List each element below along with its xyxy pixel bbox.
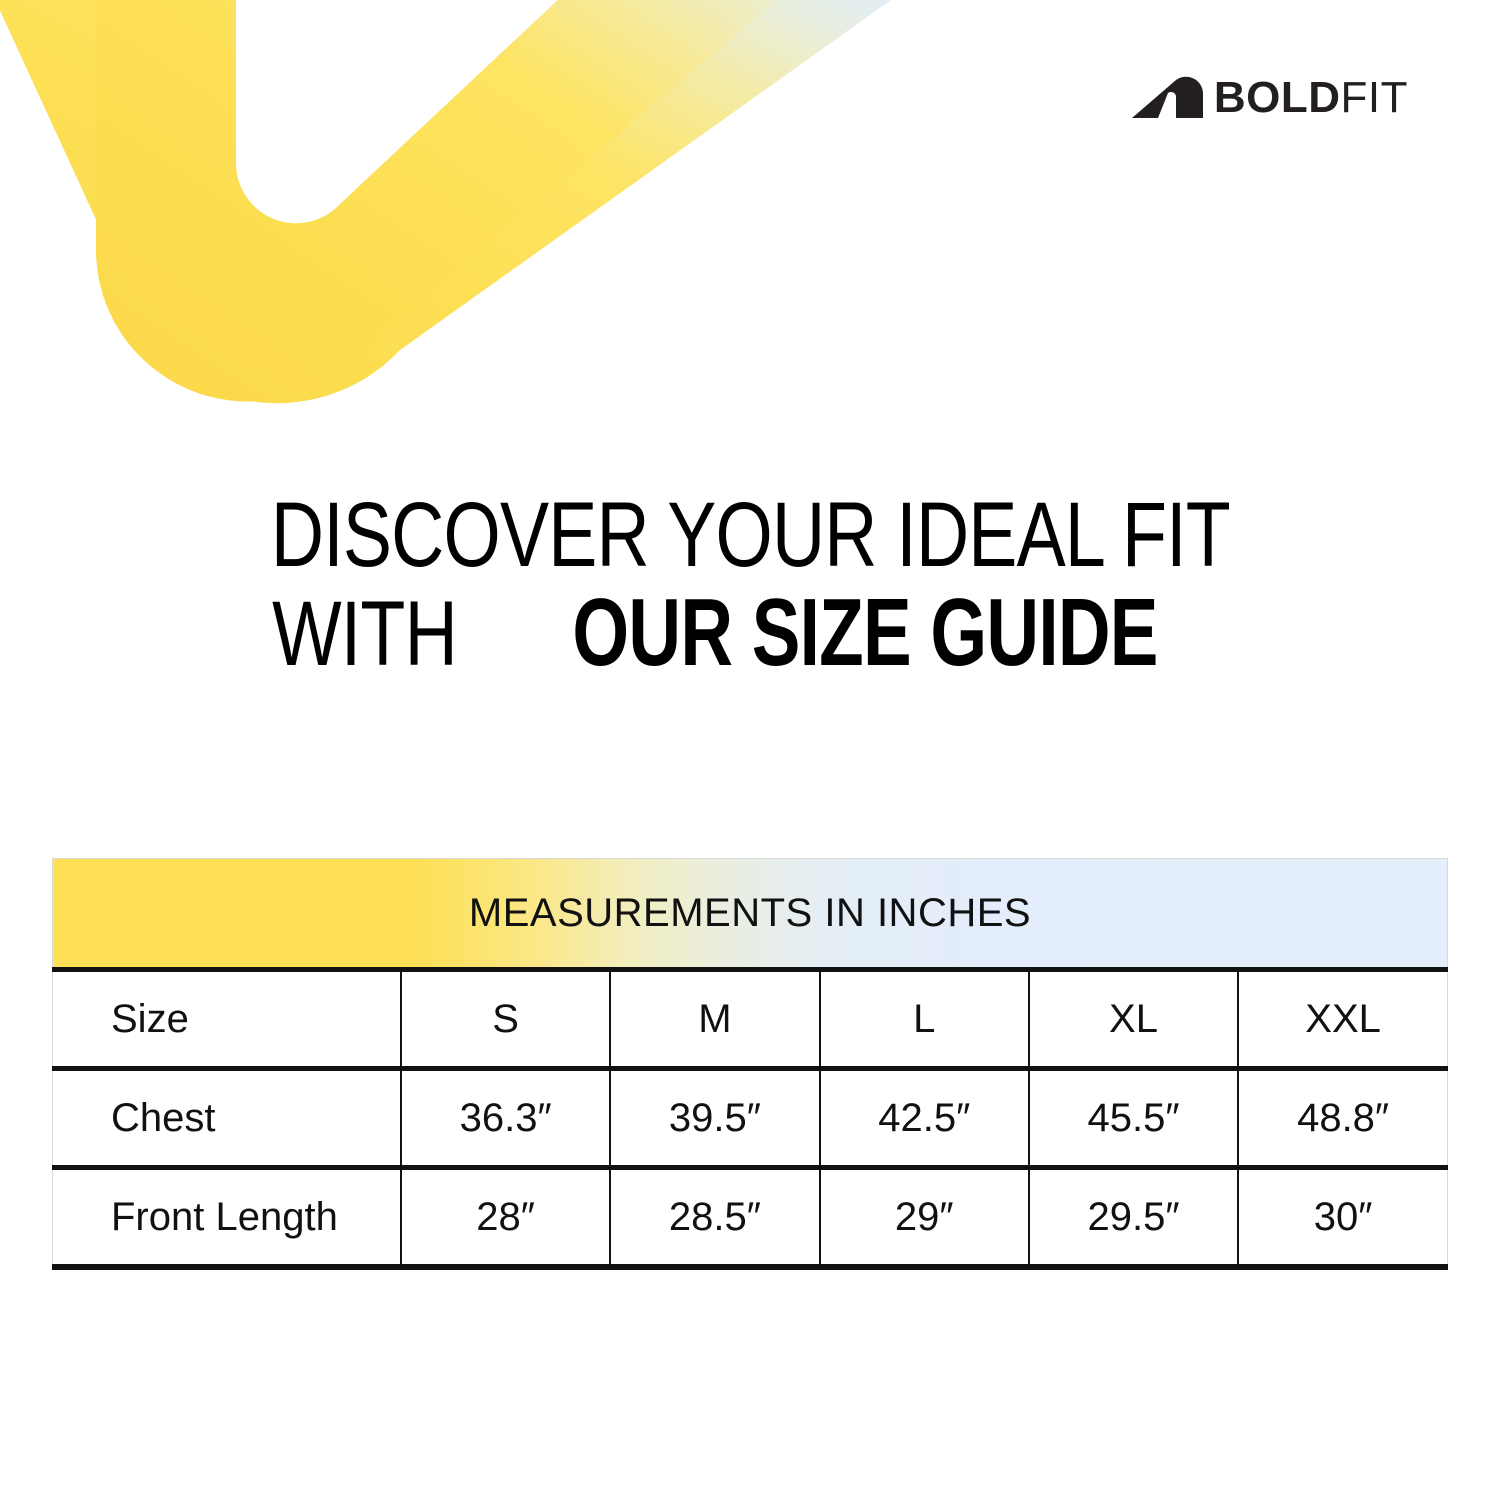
- table-row: Chest 36.3″ 39.5″ 42.5″ 45.5″ 48.8″: [53, 1069, 1448, 1168]
- headline-line-1: DISCOVER YOUR IDEAL FIT: [0, 492, 1500, 579]
- cell-chest-l: 42.5″: [820, 1069, 1029, 1168]
- cell-frontlength-xl: 29.5″: [1029, 1168, 1238, 1268]
- headline-line-2: WITHOUR SIZE GUIDE: [0, 587, 1500, 678]
- table-row: Front Length 28″ 28.5″ 29″ 29.5″ 30″: [53, 1168, 1448, 1268]
- table-row: Size S M L XL XXL: [53, 970, 1448, 1069]
- brand-name-bold: BOLD: [1214, 73, 1341, 122]
- cell-size-xxl: XXL: [1238, 970, 1447, 1069]
- page-title: DISCOVER YOUR IDEAL FIT WITHOUR SIZE GUI…: [0, 492, 1500, 679]
- row-label: Chest: [53, 1069, 401, 1168]
- brand-wordmark: BOLDFIT: [1214, 76, 1408, 120]
- row-label: Front Length: [53, 1168, 401, 1268]
- headline-line-1-text: DISCOVER YOUR IDEAL FIT: [270, 492, 1229, 579]
- brand-name-light: FIT: [1341, 73, 1408, 122]
- cell-chest-xxl: 48.8″: [1238, 1069, 1447, 1168]
- headline-line-2-bold: OUR SIZE GUIDE: [573, 587, 1158, 678]
- checkmark-swoosh-shape: [0, 0, 900, 470]
- cell-size-xl: XL: [1029, 970, 1238, 1069]
- table-header-row: MEASUREMENTS IN INCHES: [53, 859, 1448, 970]
- brand-logo: BOLDFIT: [1132, 76, 1408, 120]
- cell-chest-xl: 45.5″: [1029, 1069, 1238, 1168]
- size-guide-page: BOLDFIT DISCOVER YOUR IDEAL FIT WITHOUR …: [0, 0, 1500, 1500]
- cell-size-m: M: [610, 970, 819, 1069]
- cell-chest-m: 39.5″: [610, 1069, 819, 1168]
- cell-frontlength-m: 28.5″: [610, 1168, 819, 1268]
- row-label: Size: [53, 970, 401, 1069]
- table-caption: MEASUREMENTS IN INCHES: [53, 859, 1448, 970]
- table-body: Size S M L XL XXL Chest 36.3″ 39.5″ 42.5…: [53, 970, 1448, 1268]
- boldfit-a-mark-icon: [1132, 76, 1204, 120]
- headline-line-2-thin: WITH: [273, 591, 458, 678]
- cell-size-s: S: [401, 970, 610, 1069]
- cell-frontlength-l: 29″: [820, 1168, 1029, 1268]
- size-chart-table: MEASUREMENTS IN INCHES Size S M L XL XXL…: [52, 858, 1448, 1270]
- cell-frontlength-xxl: 30″: [1238, 1168, 1447, 1268]
- cell-frontlength-s: 28″: [401, 1168, 610, 1268]
- cell-chest-s: 36.3″: [401, 1069, 610, 1168]
- cell-size-l: L: [820, 970, 1029, 1069]
